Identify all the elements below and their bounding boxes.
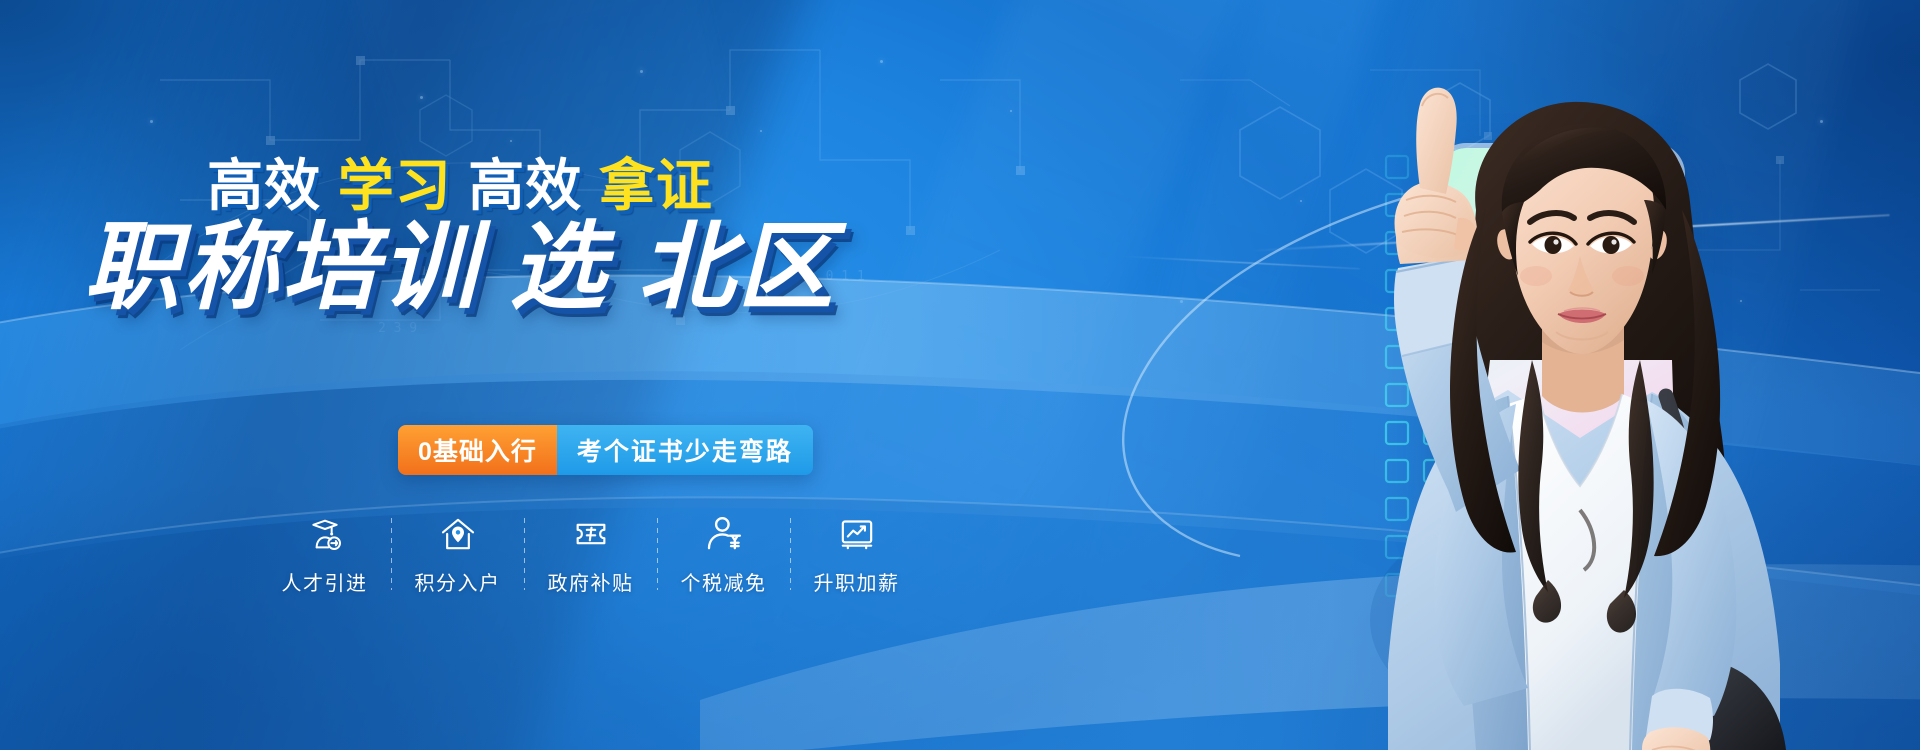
feature-label: 人才引进	[282, 567, 368, 596]
headline-main-before: 职称培训	[84, 214, 480, 321]
headline-top-segment-2: 学习	[338, 158, 452, 214]
promo-banner: 2 3 9 1 0 1 1 0 1 0	[0, 0, 1920, 750]
presenter-figure	[1280, 60, 1840, 750]
badge-left-label: 0基础入行	[398, 425, 557, 475]
headline-top-segment-1: 高效	[207, 158, 321, 214]
house-location-pin-icon	[436, 512, 480, 556]
chart-monitor-icon	[835, 512, 879, 556]
headline-main-accent-wrap: 选	[510, 218, 609, 319]
ticket-yuan-icon	[569, 512, 613, 556]
banner-content: 高效 学习 高效 拿证 职称培训 选 北区 0基础入行 考个证书少走弯路	[0, 0, 1060, 750]
graduation-cap-person-icon	[303, 512, 347, 556]
feature-item-talent-introduction[interactable]: 人才引进	[258, 512, 391, 596]
feature-item-promotion-raise[interactable]: 升职加薪	[790, 512, 923, 596]
feature-label: 升职加薪	[814, 567, 900, 596]
feature-item-points-residency[interactable]: 积分入户	[391, 512, 524, 596]
feature-label: 个税减免	[681, 567, 767, 596]
headline-main: 职称培训 选 北区	[0, 218, 920, 319]
figure-zone	[1160, 0, 1920, 750]
feature-label: 积分入户	[415, 567, 501, 596]
feature-item-tax-reduction[interactable]: 个税减免	[657, 512, 790, 596]
feature-item-government-subsidy[interactable]: 政府补贴	[524, 512, 657, 596]
headline-main-accent: 选	[510, 214, 609, 321]
feature-list: 人才引进 积分入户	[258, 512, 923, 596]
headline-top-segment-3: 高效	[468, 158, 582, 214]
person-yuan-icon	[702, 512, 746, 556]
feature-label: 政府补贴	[548, 567, 634, 596]
badge-right-label: 考个证书少走弯路	[557, 425, 813, 475]
headline-top: 高效 学习 高效 拿证	[0, 158, 920, 214]
headline-main-after: 北区	[638, 214, 836, 321]
tagline-badge: 0基础入行 考个证书少走弯路	[398, 425, 813, 475]
headline-top-segment-4: 拿证	[599, 158, 713, 214]
